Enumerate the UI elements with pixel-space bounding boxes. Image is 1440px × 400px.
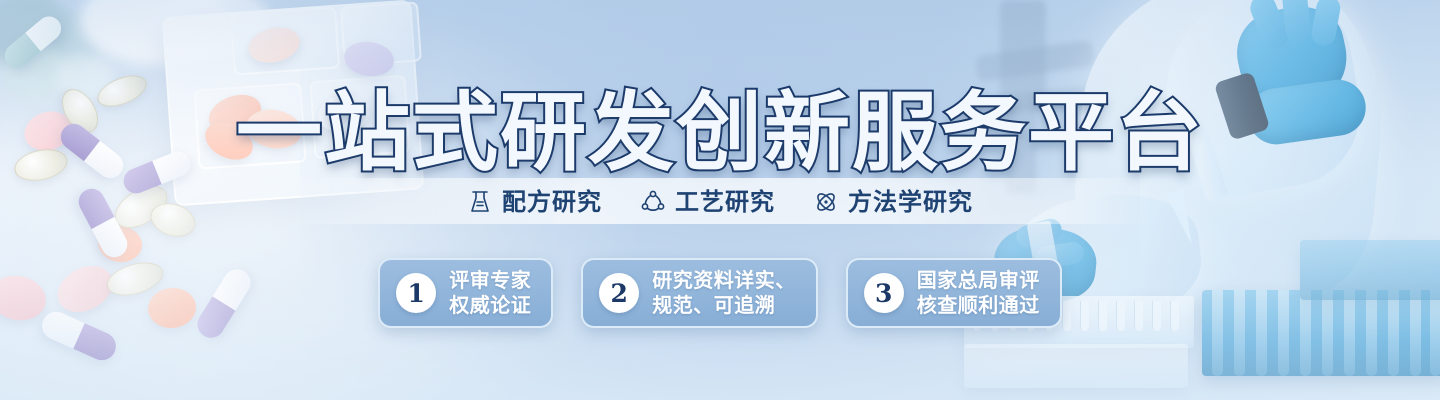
feature-card-1[interactable]: 1 评审专家 权威论证 — [378, 258, 553, 328]
card-text: 国家总局审评 核查顺利通过 — [917, 268, 1040, 318]
banner-content: 一站式研发创新服务平台 配方研究 — [0, 0, 1440, 400]
atom-icon — [813, 189, 839, 215]
service-list: 配方研究 工艺研究 — [0, 182, 1440, 222]
card-line-1: 国家总局审评 — [917, 268, 1040, 293]
card-line-2: 权威论证 — [449, 293, 531, 318]
promo-banner: 一站式研发创新服务平台 配方研究 — [0, 0, 1440, 400]
flask-icon — [467, 189, 493, 215]
card-text: 评审专家 权威论证 — [449, 268, 531, 318]
card-line-2: 核查顺利通过 — [917, 293, 1040, 318]
card-number-badge: 3 — [864, 273, 904, 313]
feature-card-2[interactable]: 2 研究资料详实、 规范、可追溯 — [581, 258, 818, 328]
service-label: 工艺研究 — [675, 190, 775, 214]
service-item-formulation[interactable]: 配方研究 — [467, 189, 602, 215]
service-label: 方法学研究 — [848, 190, 973, 214]
card-line-1: 研究资料详实、 — [652, 268, 796, 293]
card-line-2: 规范、可追溯 — [652, 293, 796, 318]
card-text: 研究资料详实、 规范、可追溯 — [652, 268, 796, 318]
service-item-methodology[interactable]: 方法学研究 — [813, 189, 973, 215]
card-line-1: 评审专家 — [449, 268, 531, 293]
card-number-badge: 1 — [396, 273, 436, 313]
feature-card-3[interactable]: 3 国家总局审评 核查顺利通过 — [846, 258, 1062, 328]
card-number-badge: 2 — [599, 273, 639, 313]
service-label: 配方研究 — [502, 190, 602, 214]
feature-card-list: 1 评审专家 权威论证 2 研究资料详实、 规范、可追溯 3 国家总局审评 核查… — [0, 258, 1440, 328]
banner-title: 一站式研发创新服务平台 — [0, 62, 1440, 187]
molecule-icon — [640, 189, 666, 215]
service-item-process[interactable]: 工艺研究 — [640, 189, 775, 215]
